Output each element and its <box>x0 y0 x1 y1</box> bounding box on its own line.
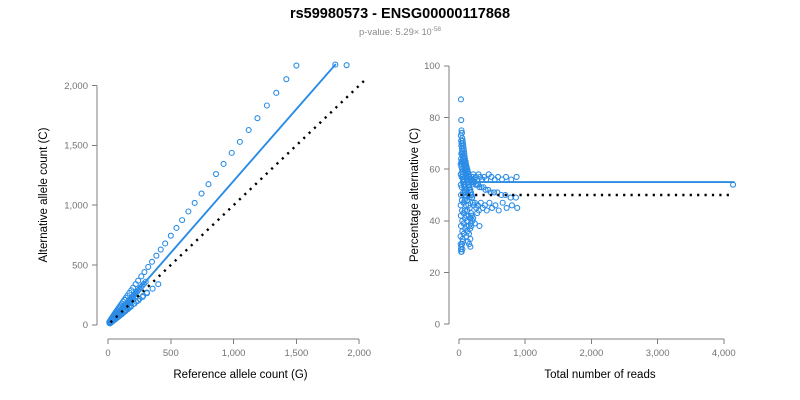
data-point <box>149 259 154 264</box>
y-axis-title: Alternative allele count (C) <box>38 127 50 262</box>
data-point <box>504 205 509 210</box>
data-point <box>163 241 168 246</box>
data-point <box>487 200 492 205</box>
y-tick-label: 60 <box>429 165 440 176</box>
plot-area <box>107 62 367 326</box>
data-point <box>294 63 299 68</box>
data-point <box>214 172 219 177</box>
data-point <box>229 150 234 155</box>
data-point <box>515 205 520 210</box>
data-point <box>168 233 173 238</box>
data-point <box>264 103 269 108</box>
x-tick-label: 2,000 <box>580 348 604 359</box>
y-tick-label: 20 <box>429 268 440 279</box>
x-tick-label: 4,000 <box>712 348 736 359</box>
allele-count-scatter-svg: 05001,0001,5002,00005001,0001,5002,000Re… <box>0 0 400 400</box>
data-point <box>199 191 204 196</box>
y-axis-title: Percentage alternative (C) <box>409 128 421 262</box>
x-tick-label: 0 <box>105 348 110 359</box>
data-point <box>496 208 501 213</box>
data-point <box>274 90 279 95</box>
axes: 05001,0001,5002,00005001,0001,5002,000Re… <box>38 81 371 381</box>
data-point <box>509 203 514 208</box>
y-tick-label: 0 <box>83 320 88 331</box>
x-tick-label: 0 <box>456 348 461 359</box>
data-point <box>180 218 185 223</box>
reference-dotted-line <box>111 78 367 322</box>
data-point <box>158 247 163 252</box>
data-point <box>484 208 489 213</box>
data-point <box>174 225 179 230</box>
data-point <box>503 174 508 179</box>
data-points <box>458 97 736 255</box>
data-point <box>500 200 505 205</box>
data-point <box>477 224 482 229</box>
y-tick-label: 1,000 <box>64 201 88 212</box>
y-tick-label: 0 <box>435 320 440 331</box>
scatter-panel-percentage: 02040608010001,0002,0003,0004,000Total n… <box>400 0 800 400</box>
y-tick-label: 2,000 <box>64 81 88 92</box>
data-point <box>150 286 155 291</box>
percentage-alternative-scatter-svg: 02040608010001,0002,0003,0004,000Total n… <box>400 0 800 400</box>
data-point <box>458 97 463 102</box>
axes: 02040608010001,0002,0003,0004,000Total n… <box>409 61 736 381</box>
x-tick-label: 3,000 <box>646 348 670 359</box>
data-point <box>344 63 349 68</box>
y-tick-label: 40 <box>429 216 440 227</box>
data-point <box>459 118 464 123</box>
x-tick-label: 500 <box>163 348 179 359</box>
y-tick-label: 100 <box>424 61 440 72</box>
x-axis-title: Total number of reads <box>544 369 655 381</box>
regression-fit-line <box>109 65 336 324</box>
data-point <box>192 200 197 205</box>
y-tick-label: 1,500 <box>64 141 88 152</box>
data-point <box>154 253 159 258</box>
data-point <box>146 264 151 269</box>
x-tick-label: 2,000 <box>347 348 371 359</box>
data-point <box>284 77 289 82</box>
data-points <box>107 62 349 326</box>
x-tick-label: 1,000 <box>513 348 537 359</box>
data-point <box>255 116 260 121</box>
x-axis-title: Reference allele count (G) <box>173 369 307 381</box>
data-point <box>142 270 147 275</box>
data-point <box>514 174 519 179</box>
x-tick-label: 1,000 <box>222 348 246 359</box>
data-point <box>156 282 161 287</box>
data-point <box>246 128 251 133</box>
y-tick-label: 80 <box>429 113 440 124</box>
data-point <box>237 139 242 144</box>
plot-area <box>458 97 736 255</box>
data-point <box>186 209 191 214</box>
scatter-panel-allele-counts: 05001,0001,5002,00005001,0001,5002,000Re… <box>0 0 400 400</box>
data-point <box>206 182 211 187</box>
x-tick-label: 1,500 <box>284 348 308 359</box>
data-point <box>221 161 226 166</box>
y-tick-label: 500 <box>72 260 88 271</box>
